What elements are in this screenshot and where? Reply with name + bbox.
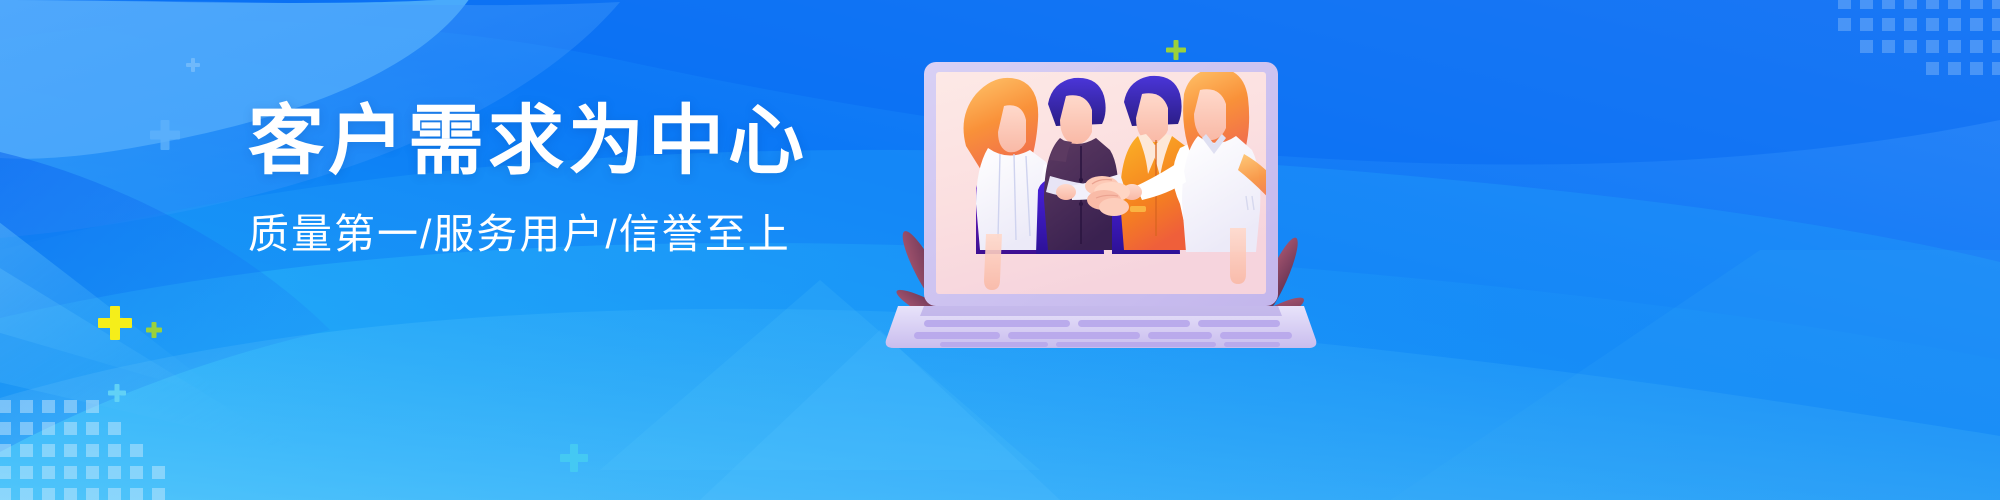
dot-grid-bottom-left	[0, 398, 196, 500]
page-subtitle: 质量第一/服务用户/信誉至上	[248, 214, 888, 255]
plus-icon-yellow-bottom	[98, 306, 132, 340]
promo-banner: 客户需求为中心 质量第一/服务用户/信誉至上	[0, 0, 2000, 500]
plus-icon-green-bottom	[146, 322, 162, 338]
plus-icon-cyan-mid	[560, 444, 588, 472]
laptop-hinge	[920, 306, 1282, 316]
headline-block: 客户需求为中心 质量第一/服务用户/信誉至上	[248, 104, 888, 255]
page-title: 客户需求为中心	[248, 104, 888, 180]
dot-grid-top-right	[1836, 0, 2000, 94]
plus-icon-cyan-topleft	[186, 58, 200, 72]
laptop-keyboard	[914, 320, 1292, 347]
plus-icon-cyan-bottom	[108, 384, 126, 402]
plus-icon-cyan-left	[150, 120, 180, 150]
laptop-team-handstack-illustration	[880, 28, 1320, 368]
